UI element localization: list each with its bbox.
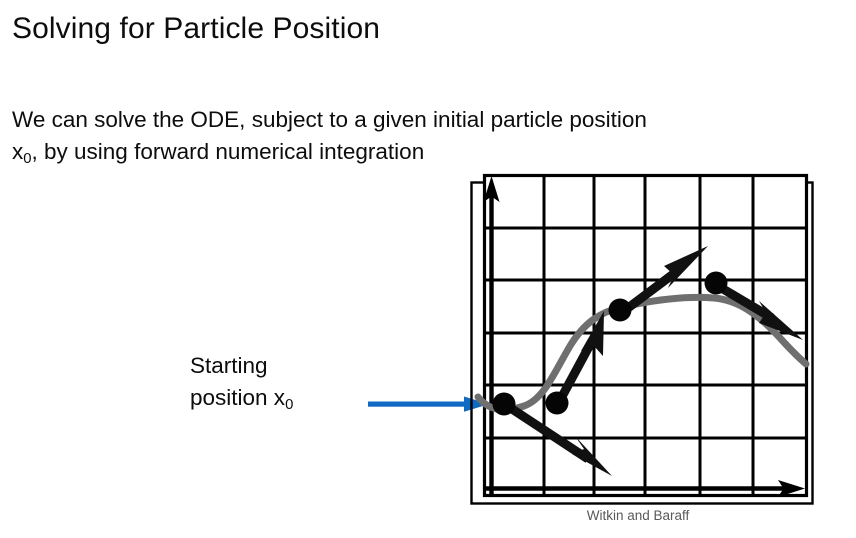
body-line-2-prefix: x [12, 139, 23, 164]
callout-line-1: Starting [190, 353, 268, 378]
particle-point-4 [705, 272, 728, 295]
body-line-2-suffix: , by using forward numerical integration [32, 139, 425, 164]
callout-line-2-subscript: 0 [285, 397, 293, 413]
particle-trajectory-figure [462, 168, 822, 513]
particle-point-3 [609, 299, 632, 322]
particle-point-1 [493, 393, 516, 416]
callout-line-2-prefix: position x [190, 385, 285, 410]
starting-position-callout: Starting position x0 [190, 350, 293, 417]
page-title: Solving for Particle Position [12, 10, 380, 48]
figure-caption: Witkin and Baraff [462, 507, 814, 525]
particle-point-2 [546, 392, 569, 415]
body-paragraph: We can solve the ODE, subject to a given… [12, 104, 852, 171]
body-line-2-subscript: 0 [23, 151, 31, 167]
body-line-1: We can solve the ODE, subject to a given… [12, 107, 647, 132]
